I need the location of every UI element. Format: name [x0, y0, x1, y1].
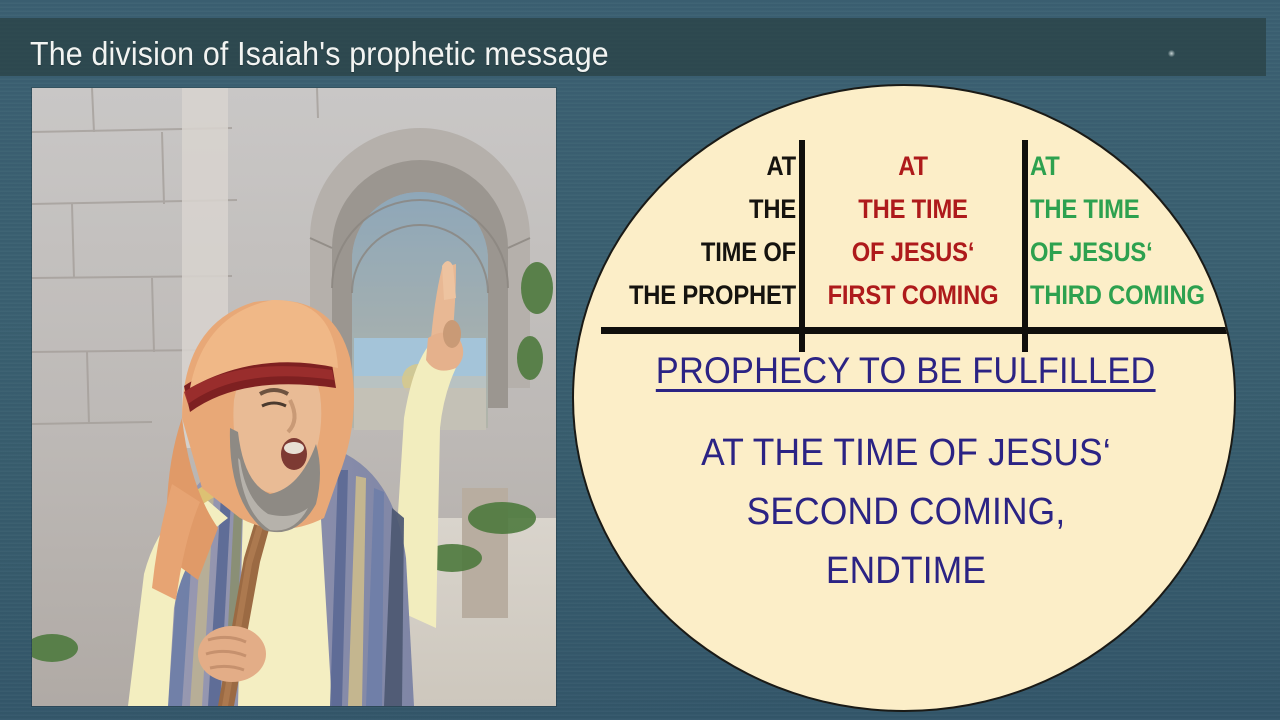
column-line: THE TIME — [820, 188, 1007, 231]
prophecy-circle-diagram: AT THE TIME OF THE PROPHET AT THE TIME O… — [572, 84, 1236, 712]
prophecy-body-line: AT THE TIME OF JESUS‘ — [597, 424, 1215, 483]
column-at-the-time-of-jesus-third-coming: AT THE TIME OF JESUS‘ THIRD COMING — [1030, 145, 1213, 317]
timeline-columns: AT THE TIME OF THE PROPHET AT THE TIME O… — [574, 111, 1236, 327]
column-line: THE — [609, 188, 796, 231]
prophecy-body-line: SECOND COMING, — [597, 483, 1215, 542]
title-bar: The division of Isaiah's prophetic messa… — [0, 18, 1266, 76]
column-at-the-time-of-the-prophet: AT THE TIME OF THE PROPHET — [609, 145, 796, 317]
page-title: The division of Isaiah's prophetic messa… — [30, 34, 609, 74]
column-at-the-time-of-jesus-first-coming: AT THE TIME OF JESUS‘ FIRST COMING — [820, 145, 1007, 317]
prophecy-body-line: ENDTIME — [597, 542, 1215, 601]
column-line: AT — [820, 145, 1007, 188]
prophecy-summary: PROPHECY TO BE FULFILLED AT THE TIME OF … — [574, 348, 1236, 601]
column-line: OF JESUS‘ — [820, 231, 1007, 274]
column-line: AT — [609, 145, 796, 188]
column-divider-right — [1022, 140, 1028, 352]
column-line: THIRD COMING — [1030, 274, 1213, 317]
prophecy-heading: PROPHECY TO BE FULFILLED — [656, 348, 1156, 394]
column-line: TIME OF — [609, 231, 796, 274]
prophet-illustration-art — [32, 88, 556, 706]
prophecy-body: AT THE TIME OF JESUS‘ SECOND COMING, END… — [597, 424, 1215, 601]
slide-canvas: The division of Isaiah's prophetic messa… — [0, 0, 1280, 720]
column-line: THE TIME — [1030, 188, 1213, 231]
horizontal-divider — [601, 327, 1230, 334]
column-line: FIRST COMING — [820, 274, 1007, 317]
column-line: AT — [1030, 145, 1213, 188]
column-divider-left — [799, 140, 805, 352]
column-line: OF JESUS‘ — [1030, 231, 1213, 274]
column-line: THE PROPHET — [609, 274, 796, 317]
prophet-illustration — [32, 88, 556, 706]
